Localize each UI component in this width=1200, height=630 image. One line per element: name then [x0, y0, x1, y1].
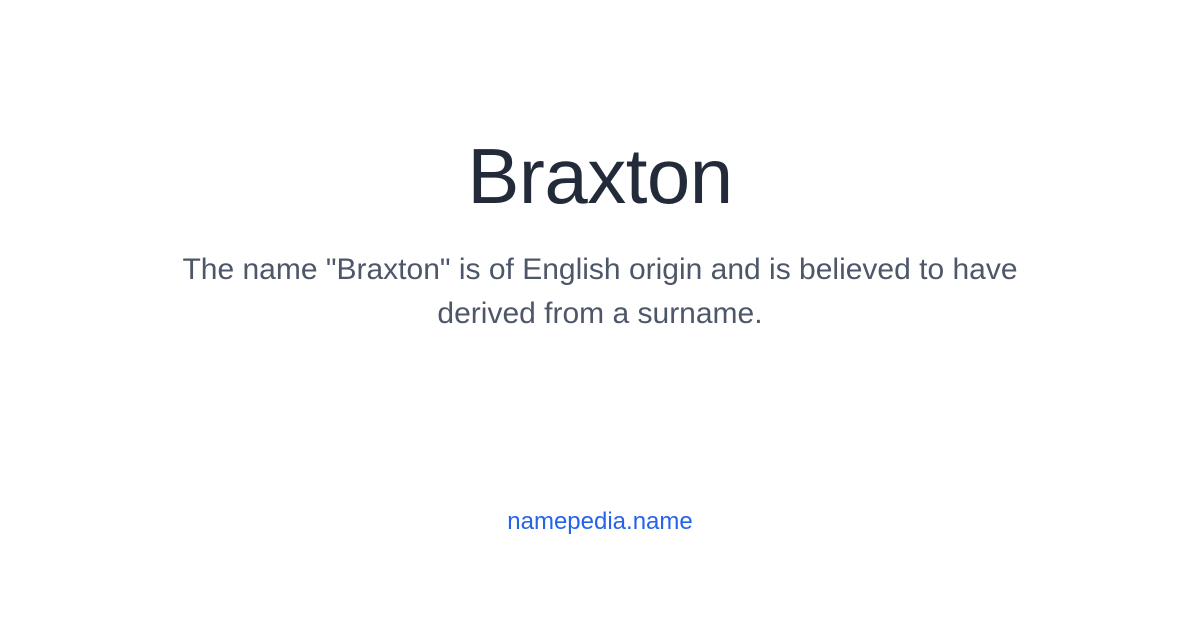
- brand-footer: namepedia.name: [0, 505, 1200, 539]
- name-description: The name "Braxton" is of English origin …: [160, 248, 1040, 336]
- brand-site-link[interactable]: namepedia.name: [507, 505, 692, 539]
- page-title: Braxton: [467, 134, 732, 218]
- main-content-block: Braxton The name "Braxton" is of English…: [0, 0, 1200, 470]
- name-info-card: Braxton The name "Braxton" is of English…: [0, 0, 1200, 630]
